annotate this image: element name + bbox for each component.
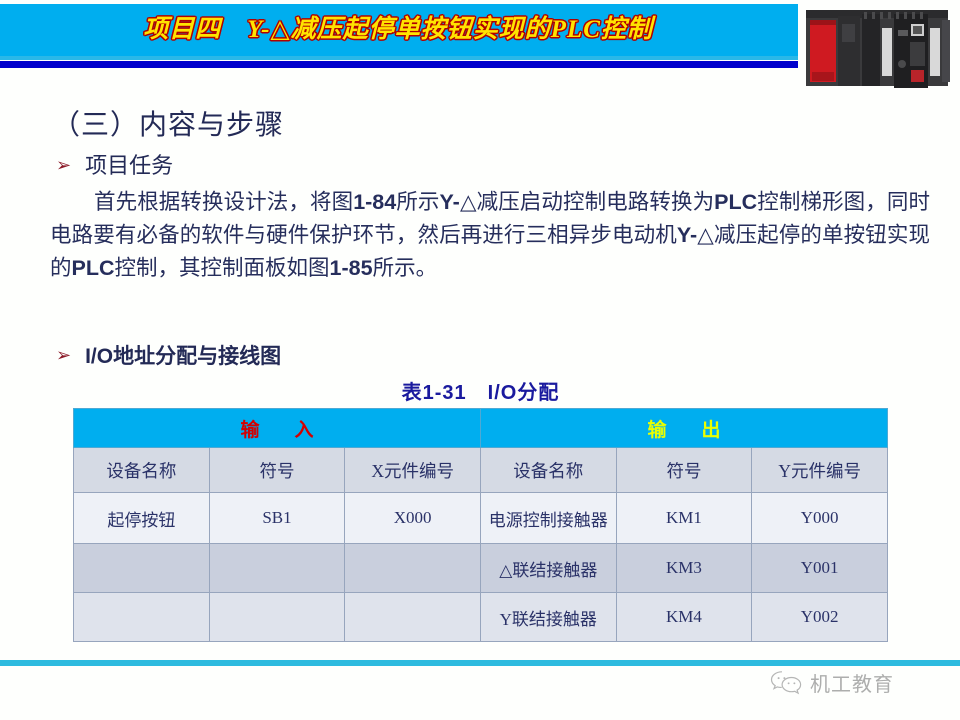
arrow-bullet-icon: ➢ bbox=[56, 156, 71, 174]
cell-output-symbol: KM4 bbox=[616, 593, 752, 642]
bullet-item-io-address: ➢ I/O地址分配与接线图 bbox=[56, 340, 281, 370]
io-allocation-table: 输 入 输 出 设备名称 符号 X元件编号 设备名称 符号 Y元件编号 起停按钮… bbox=[73, 408, 888, 642]
body-paragraph: 首先根据转换设计法，将图1-84所示Y-△减压启动控制电路转换为PLC控制梯形图… bbox=[50, 186, 930, 285]
cell-output-symbol: KM1 bbox=[616, 493, 752, 544]
cell-output-device: 电源控制接触器 bbox=[480, 493, 616, 544]
cell-input-device bbox=[74, 593, 210, 642]
cell-input-symbol: SB1 bbox=[209, 493, 345, 544]
column-header-y-element: Y元件编号 bbox=[752, 448, 888, 493]
column-header-output-symbol: 符号 bbox=[616, 448, 752, 493]
group-header-input: 输 入 bbox=[74, 409, 481, 448]
cell-input-device bbox=[74, 544, 210, 593]
cell-input-device: 起停按钮 bbox=[74, 493, 210, 544]
cell-y-element: Y000 bbox=[752, 493, 888, 544]
column-header-input-device: 设备名称 bbox=[74, 448, 210, 493]
banner-lowlight bbox=[0, 56, 818, 60]
bullet-label: 项目任务 bbox=[85, 148, 173, 180]
table-row: △联结接触器 KM3 Y001 bbox=[74, 544, 888, 593]
cell-output-symbol: KM3 bbox=[616, 544, 752, 593]
table-column-header-row: 设备名称 符号 X元件编号 设备名称 符号 Y元件编号 bbox=[74, 448, 888, 493]
table-row: Y联结接触器 KM4 Y002 bbox=[74, 593, 888, 642]
cell-input-symbol bbox=[209, 544, 345, 593]
column-header-output-device: 设备名称 bbox=[480, 448, 616, 493]
cell-x-element bbox=[345, 593, 481, 642]
cell-output-device: △联结接触器 bbox=[480, 544, 616, 593]
footer-divider bbox=[0, 660, 960, 666]
bullet-label: I/O地址分配与接线图 bbox=[85, 340, 281, 370]
plc-module-photo bbox=[798, 2, 956, 94]
cell-y-element: Y002 bbox=[752, 593, 888, 642]
watermark-label: 机工教育 bbox=[810, 668, 894, 697]
group-header-output: 输 出 bbox=[480, 409, 887, 448]
watermark: 机工教育 bbox=[770, 668, 894, 697]
cell-output-device: Y联结接触器 bbox=[480, 593, 616, 642]
cell-x-element: X000 bbox=[345, 493, 481, 544]
cell-y-element: Y001 bbox=[752, 544, 888, 593]
section-heading: （三）内容与步骤 bbox=[52, 103, 284, 143]
table-group-header-row: 输 入 输 出 bbox=[74, 409, 888, 448]
column-header-input-symbol: 符号 bbox=[209, 448, 345, 493]
wechat-bubbles-icon bbox=[770, 670, 804, 696]
bullet-item-project-task: ➢ 项目任务 bbox=[56, 148, 173, 180]
column-header-x-element: X元件编号 bbox=[345, 448, 481, 493]
table-row: 起停按钮 SB1 X000 电源控制接触器 KM1 Y000 bbox=[74, 493, 888, 544]
header-banner: 项目四 Y-△减压起停单按钮实现的PLC控制 bbox=[0, 4, 818, 56]
cell-x-element bbox=[345, 544, 481, 593]
page-title: 项目四 Y-△减压起停单按钮实现的PLC控制 bbox=[0, 4, 818, 56]
header-underline bbox=[0, 61, 818, 68]
table-caption: 表1-31 I/O分配 bbox=[73, 376, 888, 405]
cell-input-symbol bbox=[209, 593, 345, 642]
arrow-bullet-icon: ➢ bbox=[56, 346, 71, 364]
